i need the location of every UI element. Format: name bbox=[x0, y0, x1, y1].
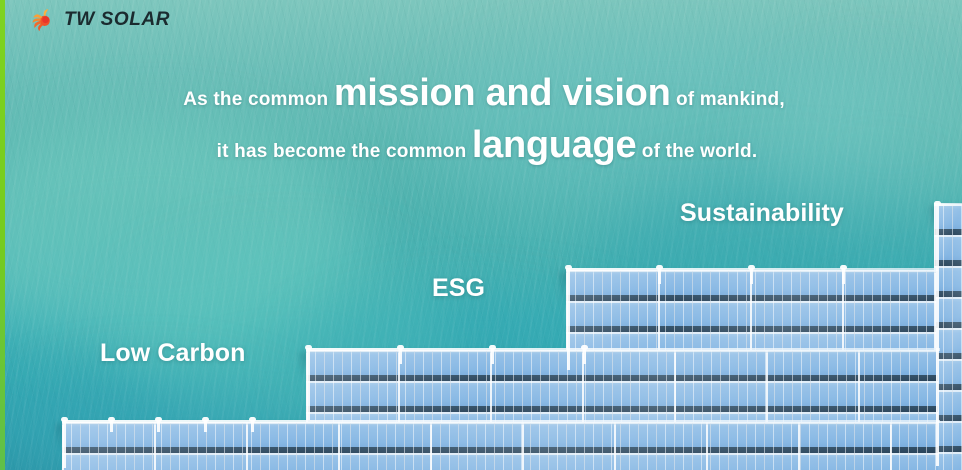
sun-swirl-icon bbox=[30, 7, 56, 33]
water-current-blotch bbox=[430, 30, 910, 230]
headline-emphasis: language bbox=[472, 124, 636, 166]
left-edge-accent-strip bbox=[0, 0, 5, 470]
headline-line-1: As the common mission and vision of mank… bbox=[0, 74, 962, 112]
water-current-blotch bbox=[0, 120, 360, 350]
headline-emphasis: mission and vision bbox=[334, 72, 671, 114]
solar-panel-step-1 bbox=[62, 422, 938, 470]
headline-text: As the common bbox=[183, 89, 334, 110]
promo-slide: TW SOLAR As the common mission and visio… bbox=[0, 0, 962, 470]
headline-text: it has become the common bbox=[217, 141, 472, 162]
brand-logo[interactable]: TW SOLAR bbox=[30, 7, 170, 33]
step-label-sustainability: Sustainability bbox=[680, 199, 844, 228]
headline: As the common mission and vision of mank… bbox=[0, 74, 962, 164]
headline-line-2: it has become the common language of the… bbox=[0, 126, 962, 164]
step-label-esg: ESG bbox=[432, 274, 485, 303]
headline-text: of mankind, bbox=[671, 89, 785, 110]
solar-panel-step-4 bbox=[934, 204, 962, 470]
headline-text: of the world. bbox=[636, 141, 757, 162]
water-current-blotch bbox=[760, 60, 962, 230]
brand-name: TW SOLAR bbox=[64, 9, 170, 31]
step-label-low-carbon: Low Carbon bbox=[100, 339, 245, 368]
